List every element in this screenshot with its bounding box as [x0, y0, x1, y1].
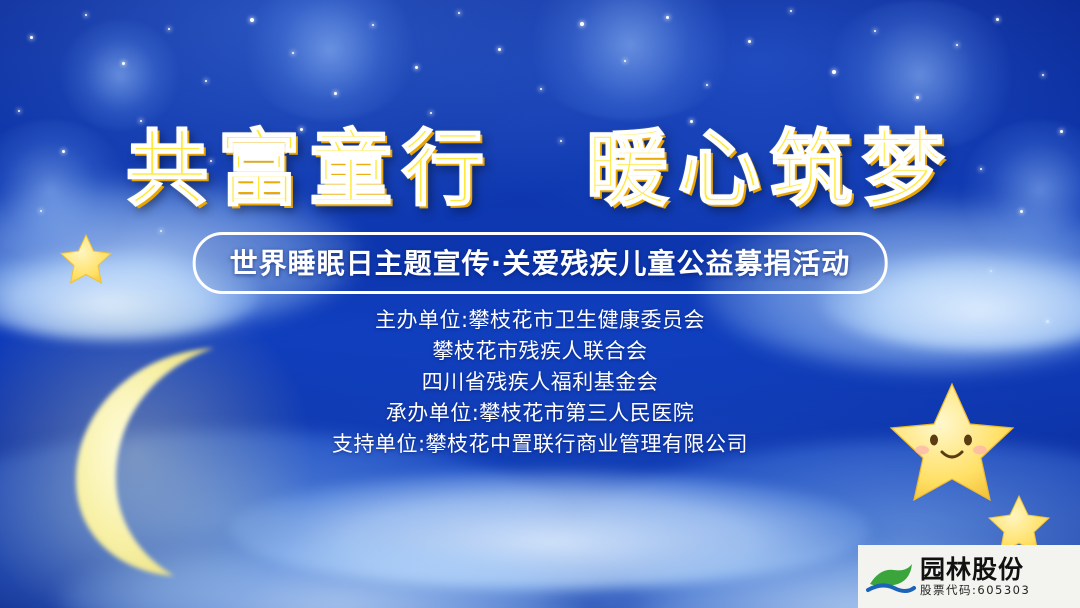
- page-title: 共富童行 暖心筑梦: [0, 102, 1080, 221]
- poster-canvas: 共富童行 暖心筑梦 世界睡眠日主题宣传·关爱残疾儿童公益募捐活动 主办单位:攀枝…: [0, 0, 1080, 608]
- leaf-wave-logo-icon: [864, 554, 918, 600]
- organizer-line: 支持单位:攀枝花中置联行商业管理有限公司: [0, 429, 1080, 460]
- logo-stock-code: 股票代码:605303: [920, 583, 1030, 598]
- organizer-list: 主办单位:攀枝花市卫生健康委员会 攀枝花市残疾人联合会 四川省残疾人福利基金会 …: [0, 305, 1080, 460]
- organizer-line: 承办单位:攀枝花市第三人民医院: [0, 398, 1080, 429]
- organizer-line: 四川省残疾人福利基金会: [0, 367, 1080, 398]
- sponsor-logo: 园林股份 股票代码:605303: [858, 545, 1080, 608]
- organizer-line: 攀枝花市残疾人联合会: [0, 336, 1080, 367]
- small-star-decoration-left: [58, 232, 114, 291]
- subtitle-badge: 世界睡眠日主题宣传·关爱残疾儿童公益募捐活动: [193, 232, 888, 294]
- logo-company-name: 园林股份: [920, 556, 1030, 583]
- organizer-line: 主办单位:攀枝花市卫生健康委员会: [0, 305, 1080, 336]
